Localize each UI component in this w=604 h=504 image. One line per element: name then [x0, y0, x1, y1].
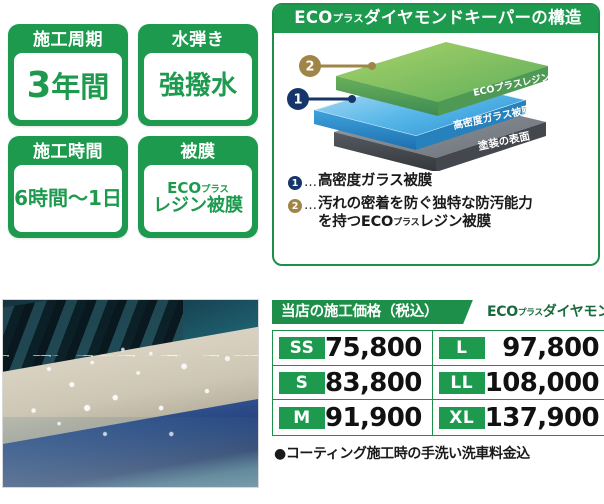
plus-superscript: プラス	[333, 14, 364, 25]
spec-card-water-repellency: 水弾き 強撥水	[138, 24, 258, 126]
structure-legend: 1 … 高密度ガラス被膜 2 … 汚れの密着を防ぐ独特な防汚能力 を持つECOプ…	[288, 173, 588, 235]
spec-card-value: 3年間	[27, 68, 110, 105]
price-amount: 137,900	[485, 403, 604, 433]
spec-card-value-line2: レジン被膜	[153, 197, 243, 216]
price-column-left: SS 75,800 S 83,800 M 91,900	[272, 330, 432, 436]
table-row: S 83,800	[273, 366, 432, 401]
price-amount: 97,800	[485, 333, 604, 363]
legend-text-1: 高密度ガラス被膜	[318, 173, 432, 191]
eco-wordmark: ECO	[487, 304, 518, 320]
price-amount: 91,900	[325, 403, 428, 433]
legend-badge-1-icon: 1	[288, 176, 302, 190]
spec-card-construction-cycle: 施工周期 3年間	[8, 24, 128, 126]
plus-superscript: プラス	[518, 308, 543, 318]
callout-1-number: 1	[293, 93, 302, 108]
structure-panel-title: ECOプラスダイヤモンドキーパーの構造	[272, 3, 600, 33]
legend-text-2-line2a: を持つECO	[318, 214, 393, 230]
legend-dots: …	[304, 173, 317, 193]
legend-badge-2-icon: 2	[288, 199, 302, 213]
spec-card-heading: 施工周期	[11, 27, 125, 53]
spec-card-value: 強撥水	[159, 73, 237, 100]
size-badge: M	[279, 407, 325, 429]
price-amount: 108,000	[485, 368, 604, 398]
price-table: SS 75,800 S 83,800 M 91,900 L 97,800 LL …	[272, 330, 602, 436]
price-table-header: 当店の施工価格（税込） ECOプラスダイヤモンドキーパー	[272, 300, 602, 324]
price-header-left-label: 当店の施工価格（税込）	[272, 300, 488, 324]
legend-item-1: 1 … 高密度ガラス被膜	[288, 173, 588, 193]
price-column-right: L 97,800 LL 108,000 XL 137,900	[432, 330, 604, 436]
spec-card-grid: 施工周期 3年間 水弾き 強撥水 施工時間 6時間〜1日 被膜 ECOプラス レ…	[6, 24, 264, 248]
price-header-product-name: ECOプラスダイヤモンドキーパー	[487, 300, 602, 324]
legend-item-2: 2 … 汚れの密着を防ぐ独特な防汚能力 を持つECOプラスレジン被膜	[288, 196, 588, 232]
photo-water-streaks	[3, 355, 258, 487]
size-badge: XL	[439, 407, 485, 429]
structure-panel: ECOプラスダイヤモンドキーパーの構造	[272, 3, 600, 266]
price-amount: 83,800	[325, 368, 428, 398]
table-row: XL 137,900	[433, 400, 604, 435]
legend-text-2-line1: 汚れの密着を防ぐ独特な防汚能力	[318, 196, 533, 212]
layer-diagram-svg: 塗装の表面 高密度ガラス被膜 ECOプラスレジン被膜 2	[274, 36, 598, 171]
table-row: SS 75,800	[273, 331, 432, 366]
price-block: 当店の施工価格（税込） ECOプラスダイヤモンドキーパー SS 75,800 S…	[272, 300, 602, 490]
legend-text-2: 汚れの密着を防ぐ独特な防汚能力 を持つECOプラスレジン被膜	[318, 196, 533, 232]
legend-text-2-line2b: レジン被膜	[419, 214, 491, 230]
spec-card-body: ECOプラス レジン被膜	[144, 165, 252, 232]
spec-card-construction-time: 施工時間 6時間〜1日	[8, 136, 128, 238]
spec-card-heading: 水弾き	[141, 27, 255, 53]
size-badge: L	[439, 337, 485, 359]
layer-diagram: 塗装の表面 高密度ガラス被膜 ECOプラスレジン被膜 2	[274, 36, 598, 171]
spec-card-body: 3年間	[14, 53, 122, 120]
legend-dots: …	[304, 196, 317, 216]
plus-superscript: プラス	[201, 184, 229, 195]
plus-superscript: プラス	[393, 218, 419, 228]
size-badge: LL	[439, 372, 485, 394]
spec-value-number: 3	[27, 65, 52, 106]
size-badge: SS	[279, 337, 325, 359]
product-name-rest: ダイヤモンドキーパー	[543, 304, 604, 320]
spec-card-heading: 被膜	[141, 139, 255, 165]
callout-2-number: 2	[305, 60, 314, 75]
table-row: L 97,800	[433, 331, 604, 366]
size-badge: S	[279, 372, 325, 394]
price-note: ●コーティング施工時の手洗い洗車料金込	[274, 443, 530, 463]
spec-card-body: 6時間〜1日	[14, 165, 122, 232]
spec-value-suffix: 年間	[51, 70, 109, 104]
table-row: M 91,900	[273, 400, 432, 435]
eco-wordmark: ECO	[294, 8, 332, 27]
spec-card-heading: 施工時間	[11, 139, 125, 165]
water-beading-photo	[3, 300, 258, 487]
price-amount: 75,800	[325, 333, 428, 363]
spec-card-body: 強撥水	[144, 53, 252, 120]
spec-card-value: 6時間〜1日	[14, 188, 122, 209]
table-row: LL 108,000	[433, 366, 604, 401]
title-rest: ダイヤモンドキーパーの構造	[364, 8, 582, 27]
spec-card-coating-film: 被膜 ECOプラス レジン被膜	[138, 136, 258, 238]
